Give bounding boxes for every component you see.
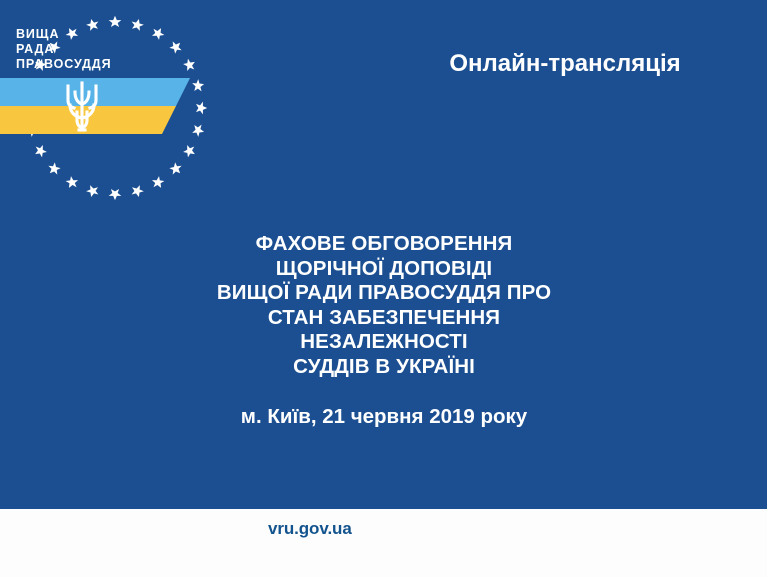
page-title: ФАХОВЕ ОБГОВОРЕННЯ ЩОРІЧНОЇ ДОПОВІДІ ВИЩ… [184, 232, 584, 379]
presentation-slide: ВИЩА РАДА ПРАВОСУДДЯ Онлайн-трансляція Ф… [0, 0, 767, 577]
footer-website-url[interactable]: vru.gov.ua [268, 519, 352, 539]
footer-bar [0, 509, 767, 577]
vru-logo: ВИЩА РАДА ПРАВОСУДДЯ [0, 0, 230, 200]
logo-wordmark: ВИЩА РАДА ПРАВОСУДДЯ [16, 27, 112, 72]
title-line: СУДДІВ В УКРАЇНІ [184, 355, 584, 380]
title-line: СТАН ЗАБЕЗПЕЧЕННЯ [184, 306, 584, 331]
title-line: НЕЗАЛЕЖНОСТІ [184, 330, 584, 355]
title-line: ЩОРІЧНОЇ ДОПОВІДІ [184, 257, 584, 282]
title-line: ВИЩОЇ РАДИ ПРАВОСУДДЯ ПРО [184, 281, 584, 306]
title-line: ФАХОВЕ ОБГОВОРЕННЯ [184, 232, 584, 257]
event-date-location: м. Київ, 21 червня 2019 року [184, 405, 584, 429]
broadcast-label: Онлайн-трансляція [370, 50, 760, 78]
